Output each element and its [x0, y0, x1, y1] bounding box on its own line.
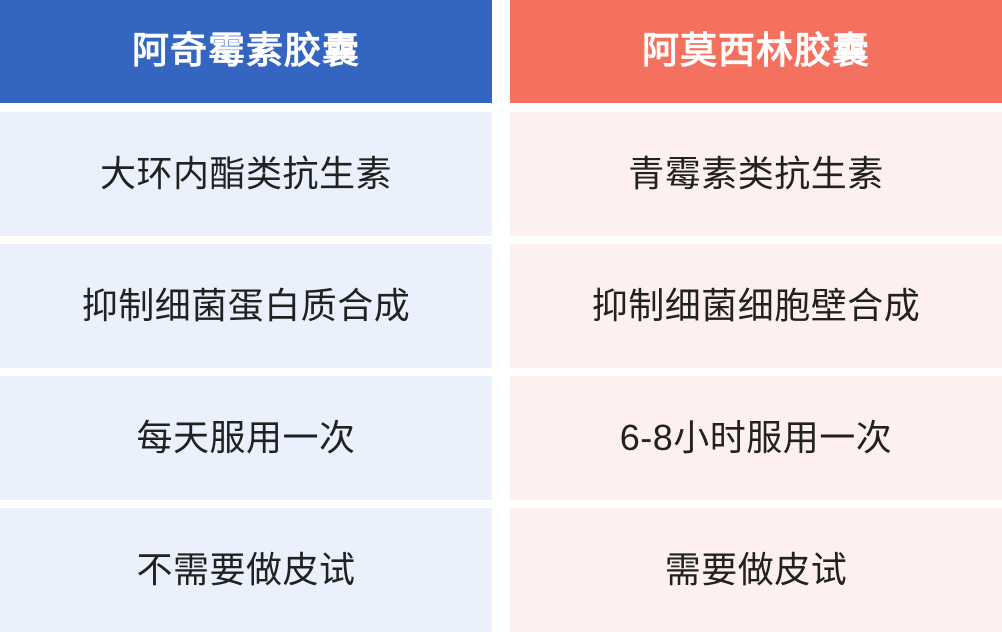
table-row: 不需要做皮试 需要做皮试 — [0, 508, 1002, 632]
table-row: 每天服用一次 6-8小时服用一次 — [0, 376, 1002, 500]
cell-azithromycin-skin-test: 不需要做皮试 — [0, 508, 492, 632]
table-row: 大环内酯类抗生素 青霉素类抗生素 — [0, 112, 1002, 236]
cell-azithromycin-mechanism: 抑制细菌蛋白质合成 — [0, 244, 492, 368]
table-row: 抑制细菌蛋白质合成 抑制细菌细胞壁合成 — [0, 244, 1002, 368]
column-header-amoxicillin: 阿莫西林胶囊 — [510, 0, 1002, 103]
column-header-azithromycin: 阿奇霉素胶囊 — [0, 0, 492, 103]
cell-amoxicillin-mechanism: 抑制细菌细胞壁合成 — [510, 244, 1002, 368]
cell-azithromycin-dosing-frequency: 每天服用一次 — [0, 376, 492, 500]
cell-amoxicillin-dosing-frequency: 6-8小时服用一次 — [510, 376, 1002, 500]
cell-amoxicillin-drug-class: 青霉素类抗生素 — [510, 112, 1002, 236]
cell-azithromycin-drug-class: 大环内酯类抗生素 — [0, 112, 492, 236]
table-header-row: 阿奇霉素胶囊 阿莫西林胶囊 — [0, 0, 1002, 103]
cell-amoxicillin-skin-test: 需要做皮试 — [510, 508, 1002, 632]
drug-comparison-table: 阿奇霉素胶囊 阿莫西林胶囊 大环内酯类抗生素 青霉素类抗生素 抑制细菌蛋白质合成… — [0, 0, 1002, 609]
